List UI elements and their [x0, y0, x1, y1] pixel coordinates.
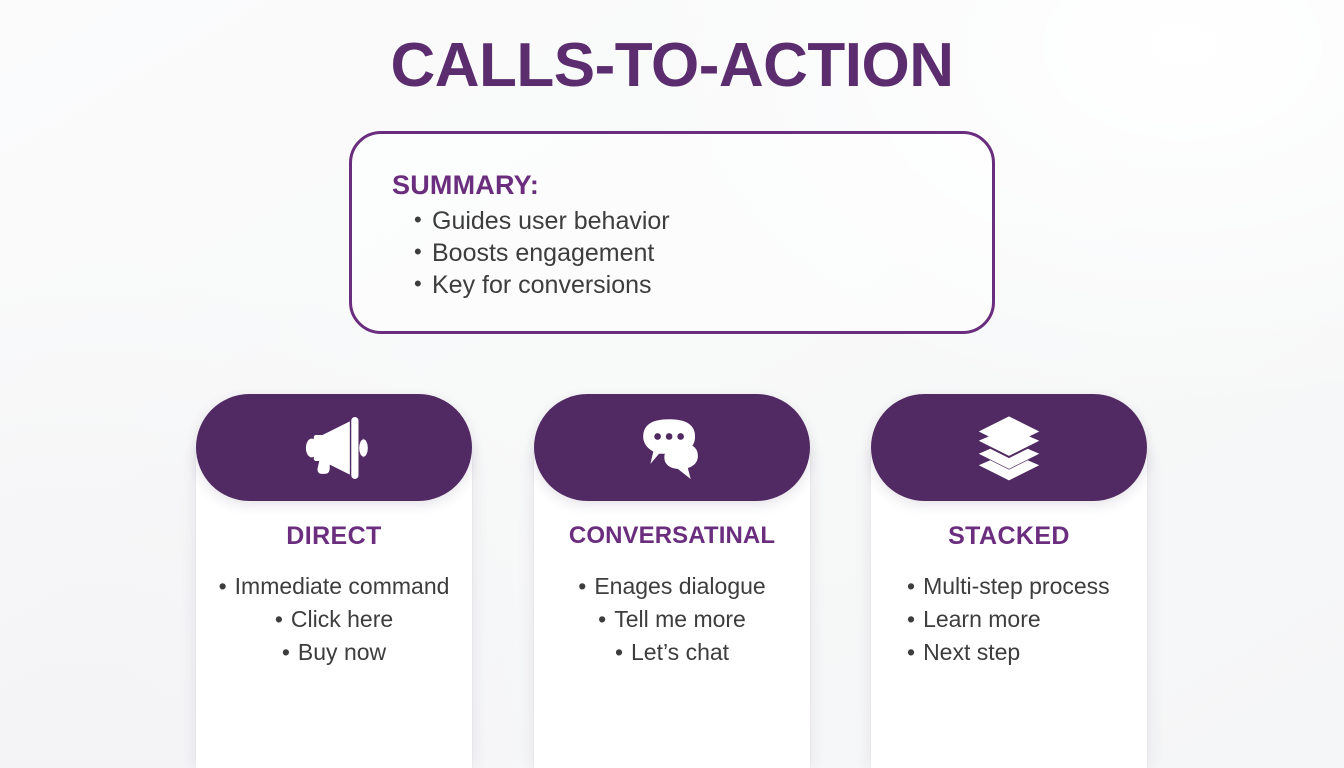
card-bullet-text: Click here	[291, 606, 393, 632]
card-bullet-item: •Learn more	[907, 603, 1147, 636]
speech-bubbles-icon	[635, 412, 709, 484]
card-bullet-list: •Immediate command •Click here •Buy now	[196, 570, 472, 669]
card-bullet-text: Enages dialogue	[594, 573, 765, 599]
card-icon-header	[196, 394, 472, 501]
card-bullet-item: •Next step	[907, 636, 1147, 669]
summary-bullet-item: Boosts engagement	[414, 237, 968, 269]
megaphone-icon	[297, 412, 371, 484]
card-bullet-list: •Multi-step process •Learn more •Next st…	[907, 570, 1147, 669]
card-bullet-item: •Tell me more	[534, 603, 810, 636]
cta-card-row: DIRECT •Immediate command •Click here •B…	[0, 394, 1344, 768]
card-bullet-text: Learn more	[923, 606, 1041, 632]
card-bullet-text: Tell me more	[614, 606, 746, 632]
bullet-glyph: •	[907, 639, 915, 665]
summary-card: SUMMARY: Guides user behavior Boosts eng…	[349, 131, 995, 334]
cta-card-conversational[interactable]: CONVERSATINAL •Enages dialogue •Tell me …	[534, 394, 810, 768]
bullet-glyph: •	[275, 606, 283, 632]
card-bullet-list: •Enages dialogue •Tell me more •Let’s ch…	[534, 570, 810, 669]
summary-bullet-item: Key for conversions	[414, 269, 968, 301]
card-bullet-text: Buy now	[298, 639, 386, 665]
card-bullet-item: •Enages dialogue	[534, 570, 810, 603]
infographic-canvas: CALLS-TO-ACTION SUMMARY: Guides user beh…	[0, 0, 1344, 768]
card-icon-header	[871, 394, 1147, 501]
stacked-layers-icon	[972, 412, 1046, 484]
card-icon-header	[534, 394, 810, 501]
bullet-glyph: •	[907, 606, 915, 632]
card-bullet-item: •Let’s chat	[534, 636, 810, 669]
card-bullet-item: •Buy now	[196, 636, 472, 669]
summary-heading: SUMMARY:	[392, 168, 968, 202]
bullet-glyph: •	[219, 573, 227, 599]
card-bullet-text: Multi-step process	[923, 573, 1110, 599]
bullet-glyph: •	[282, 639, 290, 665]
cta-card-direct[interactable]: DIRECT •Immediate command •Click here •B…	[196, 394, 472, 768]
card-bullet-item: •Multi-step process	[907, 570, 1147, 603]
card-bullet-text: Immediate command	[235, 573, 450, 599]
card-title: DIRECT	[196, 520, 472, 552]
summary-content: SUMMARY: Guides user behavior Boosts eng…	[392, 168, 968, 301]
bullet-glyph: •	[615, 639, 623, 665]
bullet-glyph: •	[578, 573, 586, 599]
card-bullet-text: Let’s chat	[631, 639, 729, 665]
card-bullet-item: •Click here	[196, 603, 472, 636]
cta-card-stacked[interactable]: STACKED •Multi-step process •Learn more …	[871, 394, 1147, 768]
card-bullet-item: •Immediate command	[196, 570, 472, 603]
bullet-glyph: •	[907, 573, 915, 599]
page-title: CALLS-TO-ACTION	[0, 28, 1344, 104]
bullet-glyph: •	[598, 606, 606, 632]
summary-bullet-item: Guides user behavior	[414, 205, 968, 237]
card-title: CONVERSATINAL	[534, 520, 810, 552]
summary-bullet-list: Guides user behavior Boosts engagement K…	[392, 205, 968, 301]
card-bullet-text: Next step	[923, 639, 1020, 665]
card-title: STACKED	[871, 520, 1147, 552]
